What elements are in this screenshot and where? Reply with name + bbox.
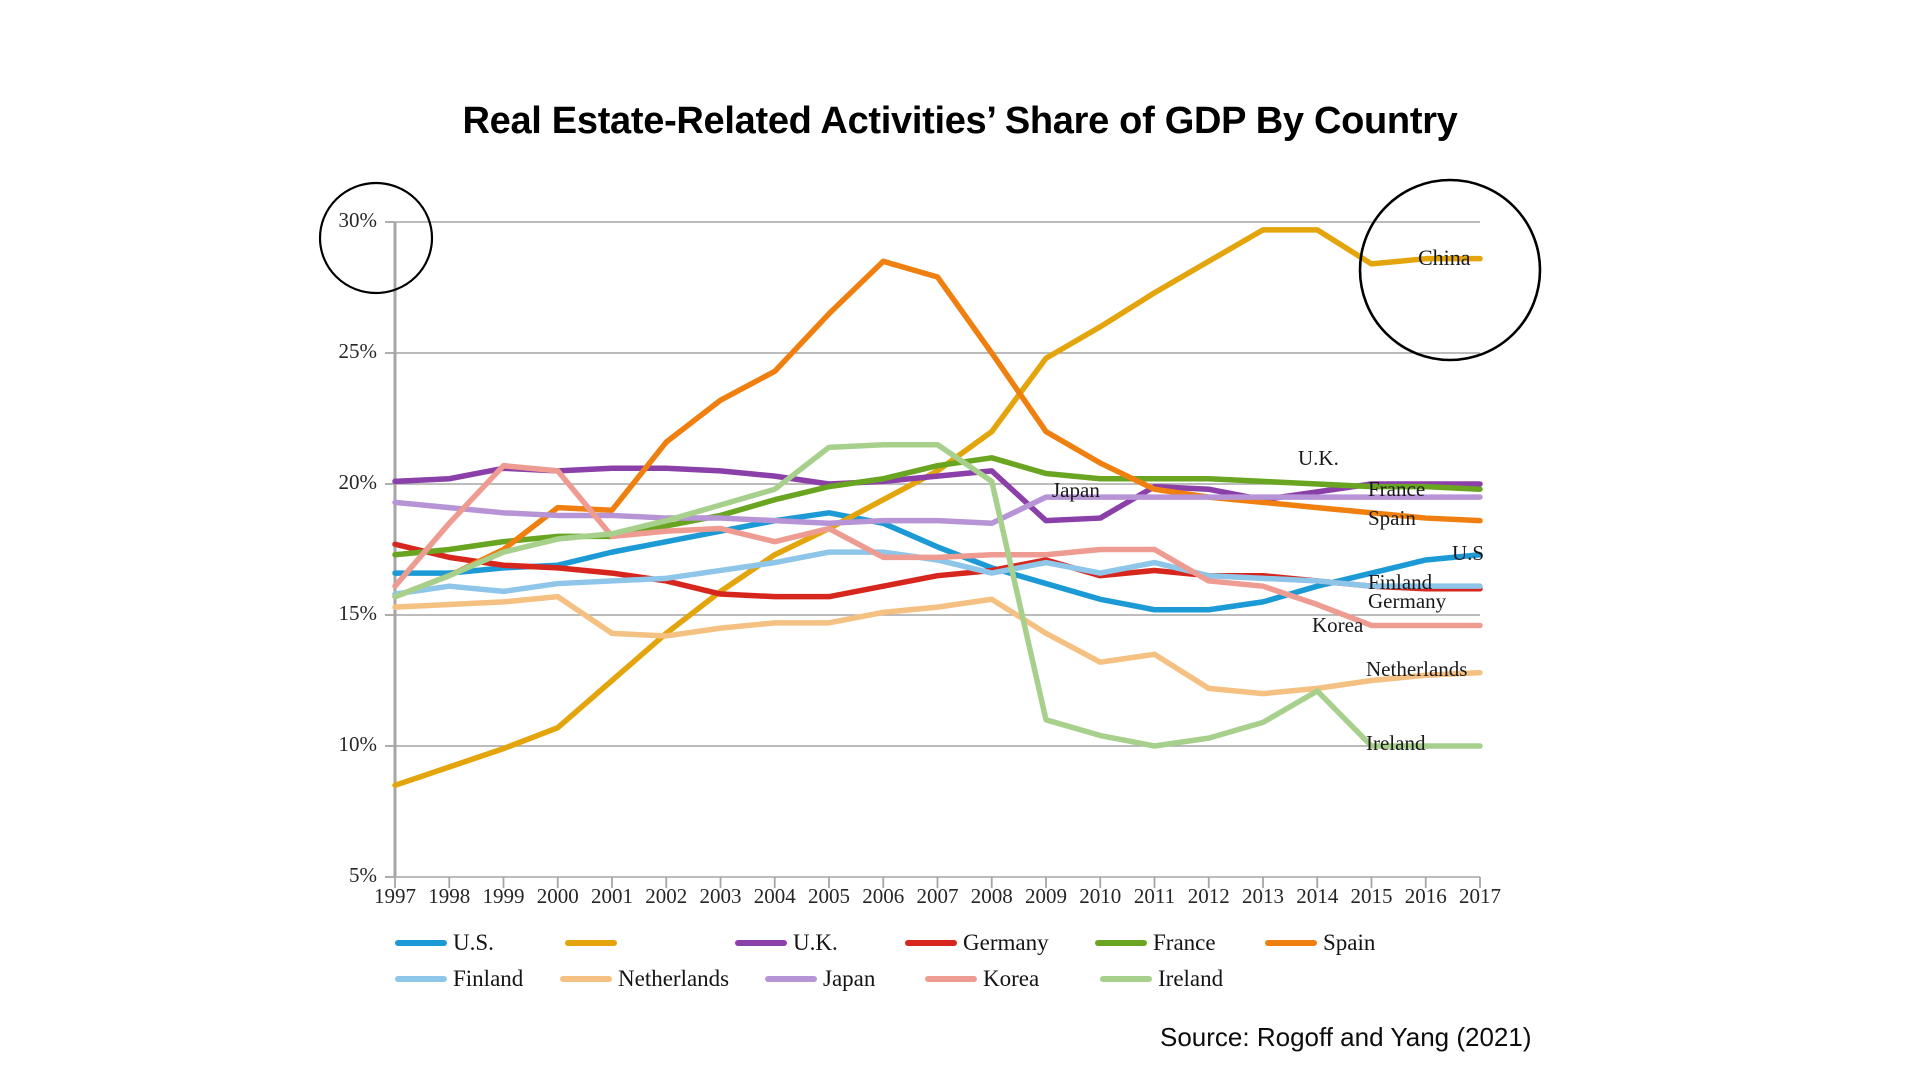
legend-swatch <box>395 976 447 982</box>
legend-item[interactable]: Spain <box>1265 930 1395 956</box>
source-note: Source: Rogoff and Yang (2021) <box>1160 1022 1532 1053</box>
x-tick-label: 2001 <box>582 884 642 909</box>
end-label-france: France <box>1368 477 1425 502</box>
legend-item[interactable]: Ireland <box>1100 966 1250 992</box>
legend-swatch <box>1265 940 1317 946</box>
legend-swatch <box>395 940 447 946</box>
y-tick-label: 25% <box>307 339 377 364</box>
end-label-germany: Germany <box>1368 589 1446 614</box>
end-label-netherlands: Netherlands <box>1366 657 1467 682</box>
end-label-ireland: Ireland <box>1366 731 1425 756</box>
y-tick-label: 10% <box>307 732 377 757</box>
x-tick-label: 2011 <box>1125 884 1185 909</box>
x-tick-label: 2006 <box>853 884 913 909</box>
legend-item[interactable] <box>565 940 735 946</box>
legend-item[interactable]: Netherlands <box>560 966 765 992</box>
legend-label: Ireland <box>1158 966 1223 992</box>
end-label-us: U.S <box>1452 541 1484 566</box>
legend: U.S.U.K.GermanyFranceSpain FinlandNether… <box>395 925 1485 997</box>
annotation-china: China <box>1418 245 1471 271</box>
chart-canvas <box>0 0 1920 1080</box>
x-tick-label: 1998 <box>419 884 479 909</box>
legend-label: Spain <box>1323 930 1375 956</box>
end-label-uk: U.K. <box>1298 446 1339 471</box>
x-tick-label: 2004 <box>745 884 805 909</box>
x-tick-label: 1997 <box>365 884 425 909</box>
legend-label: France <box>1153 930 1216 956</box>
legend-item[interactable]: U.K. <box>735 930 905 956</box>
x-tick-label: 2016 <box>1396 884 1456 909</box>
x-tick-label: 2005 <box>799 884 859 909</box>
axes <box>385 222 395 877</box>
x-tick-label: 2007 <box>908 884 968 909</box>
legend-item[interactable]: Korea <box>925 966 1100 992</box>
x-tick-label: 2017 <box>1450 884 1510 909</box>
legend-label: Korea <box>983 966 1039 992</box>
legend-swatch <box>1095 940 1147 946</box>
x-tick-label: 2010 <box>1070 884 1130 909</box>
legend-label: U.S. <box>453 930 494 956</box>
x-tick-label: 2012 <box>1179 884 1239 909</box>
legend-item[interactable]: Germany <box>905 930 1095 956</box>
legend-row-2: FinlandNetherlandsJapanKoreaIreland <box>395 961 1485 997</box>
end-label-spain: Spain <box>1368 506 1416 531</box>
x-tick-label: 2014 <box>1287 884 1347 909</box>
legend-row-1: U.S.U.K.GermanyFranceSpain <box>395 925 1485 961</box>
legend-item[interactable]: France <box>1095 930 1265 956</box>
legend-swatch <box>765 976 817 982</box>
legend-item[interactable]: Finland <box>395 966 560 992</box>
end-label-japan: Japan <box>1052 478 1100 503</box>
legend-item[interactable]: U.S. <box>395 930 565 956</box>
legend-label: U.K. <box>793 930 838 956</box>
line-netherlands <box>395 597 1480 694</box>
x-tick-label: 2008 <box>962 884 1022 909</box>
legend-label: Germany <box>963 930 1049 956</box>
legend-swatch <box>565 940 617 946</box>
x-tick-label: 1999 <box>474 884 534 909</box>
legend-item[interactable]: Japan <box>765 966 925 992</box>
legend-swatch <box>735 940 787 946</box>
x-tick-label: 2000 <box>528 884 588 909</box>
legend-label: Finland <box>453 966 523 992</box>
legend-swatch <box>1100 976 1152 982</box>
x-tick-label: 2013 <box>1233 884 1293 909</box>
y-tick-label: 20% <box>307 470 377 495</box>
annotation-shapes <box>320 180 1540 360</box>
legend-swatch <box>925 976 977 982</box>
legend-swatch <box>560 976 612 982</box>
legend-swatch <box>905 940 957 946</box>
data-lines <box>395 230 1480 785</box>
x-tick-label: 2002 <box>636 884 696 909</box>
chart-page: Real Estate-Related Activities’ Share of… <box>0 0 1920 1080</box>
end-label-korea: Korea <box>1312 613 1363 638</box>
legend-label: Netherlands <box>618 966 729 992</box>
x-tick-label: 2003 <box>691 884 751 909</box>
y-tick-label: 30% <box>307 208 377 233</box>
thirty-percent-circle-icon <box>320 183 432 293</box>
x-tick-label: 2015 <box>1342 884 1402 909</box>
y-tick-label: 15% <box>307 601 377 626</box>
x-tick-label: 2009 <box>1016 884 1076 909</box>
legend-label: Japan <box>823 966 875 992</box>
